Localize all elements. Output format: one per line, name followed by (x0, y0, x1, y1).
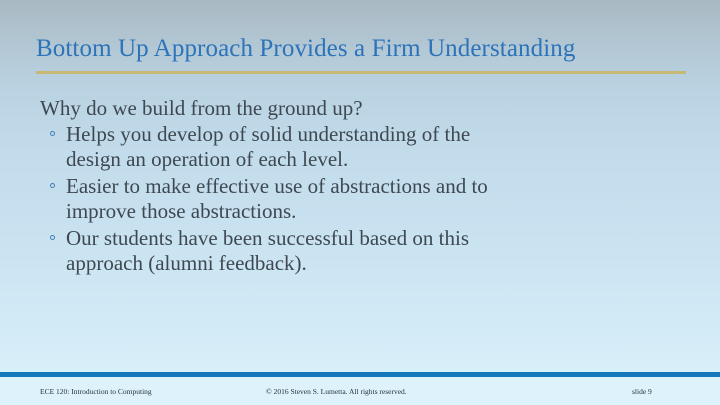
footer-course-label: ECE 120: Introduction to Computing (40, 387, 152, 397)
list-item: Helps you develop of solid understanding… (48, 122, 638, 172)
page-title: Bottom Up Approach Provides a Firm Under… (36, 34, 688, 64)
footer-copyright-label: © 2016 Steven S. Lumetta. All rights res… (266, 387, 407, 397)
list-item-label: Helps you develop of solid understanding… (66, 122, 528, 172)
bullet-list: Helps you develop of solid understanding… (38, 122, 638, 276)
slide-body: Why do we build from the ground up? Help… (38, 95, 638, 278)
bullet-circle-icon (50, 131, 55, 136)
slide-footer: ECE 120: Introduction to Computing © 201… (0, 377, 720, 405)
slide-canvas: Bottom Up Approach Provides a Firm Under… (0, 0, 720, 405)
lead-question-text: Why do we build from the ground up? (40, 95, 638, 121)
list-item: Easier to make effective use of abstract… (48, 174, 638, 224)
bullet-circle-icon (50, 183, 55, 188)
footer-slide-number: slide 9 (632, 387, 652, 397)
title-underline-rule (36, 71, 686, 74)
bullet-circle-icon (50, 235, 55, 240)
slide-title-block: Bottom Up Approach Provides a Firm Under… (36, 34, 688, 64)
list-item-label: Easier to make effective use of abstract… (66, 174, 528, 224)
list-item: Our students have been successful based … (48, 226, 638, 276)
list-item-label: Our students have been successful based … (66, 226, 528, 276)
